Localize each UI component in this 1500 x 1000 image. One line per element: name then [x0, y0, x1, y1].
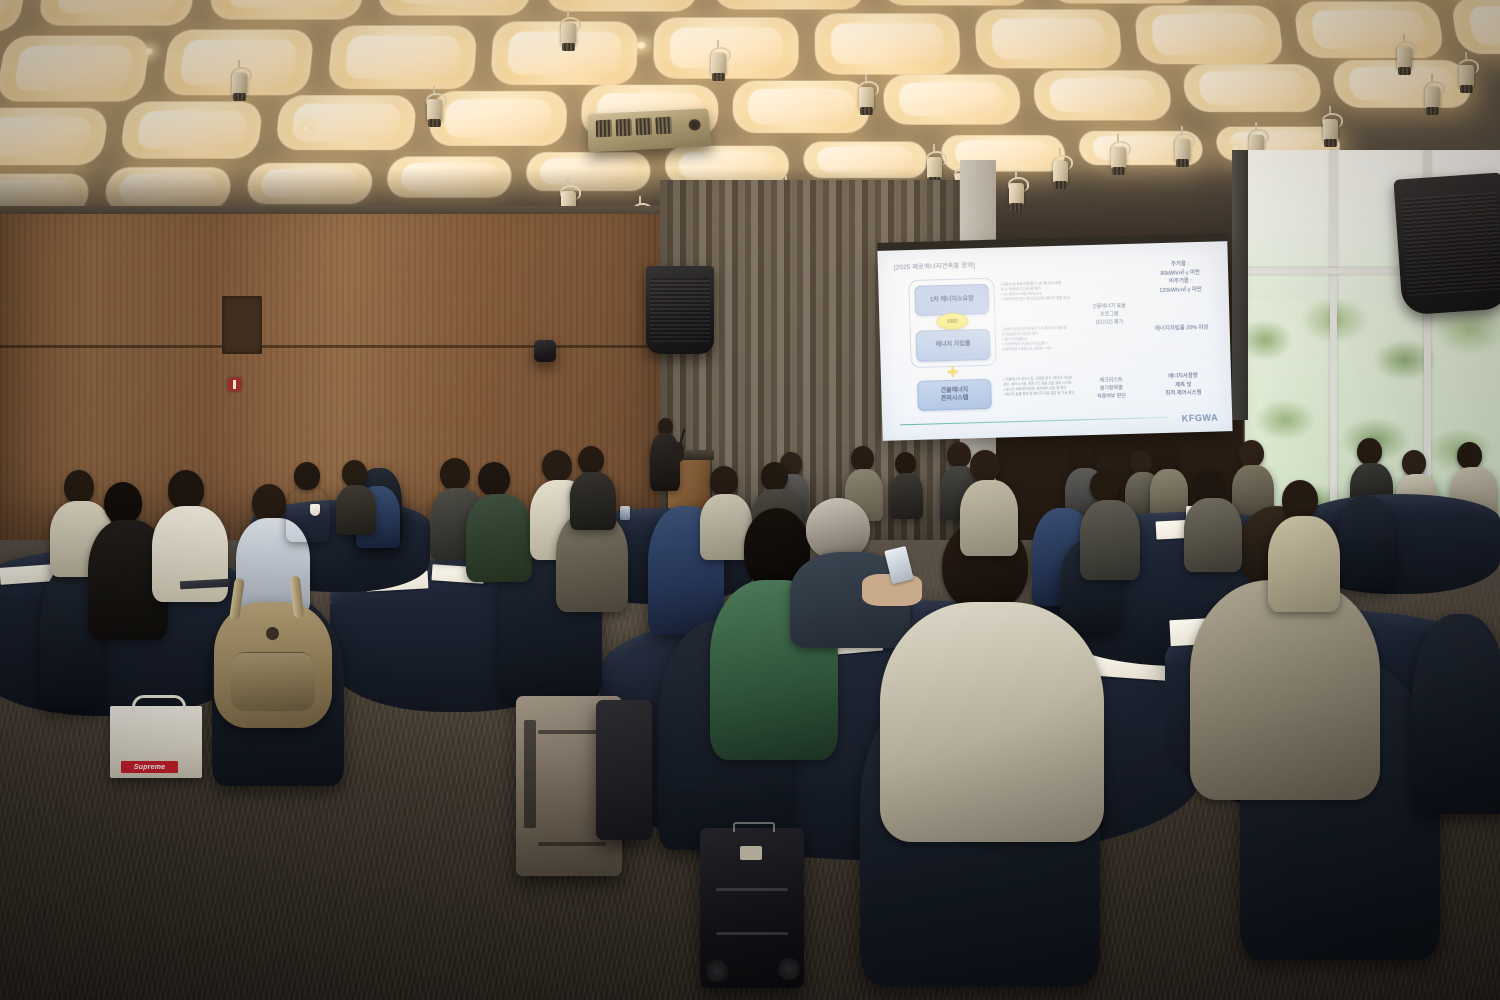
projector-vent [596, 120, 612, 138]
attendee-head [1357, 438, 1382, 465]
slide-criteria-monitoring: 에너지사용량 계측 및 최적 제어시스템 [1145, 371, 1222, 399]
ceiling-light-panel [1044, 0, 1200, 3]
attendee-head [970, 450, 1000, 482]
recessed-downlight [635, 42, 646, 49]
attendee-head [1156, 446, 1179, 471]
attendee-body [1184, 498, 1242, 572]
attendee-head [440, 458, 470, 490]
attendee-body [1080, 500, 1140, 580]
slide-col-eco2: 건물에너지 효율 프로그램 (ECO2) 평가 [1079, 302, 1140, 328]
suitcase-handle [733, 822, 774, 832]
attendee-head [1090, 470, 1120, 502]
ceiling-light-panel [428, 91, 568, 146]
wall-speaker [646, 266, 714, 354]
suitcase-ridge [716, 888, 788, 891]
projector-lens-icon [688, 119, 701, 131]
ceiling-light-panel [275, 95, 417, 150]
attendee-body [1268, 516, 1340, 612]
ceiling-light-panel [1182, 64, 1323, 112]
suitcase-lock-icon [740, 846, 762, 860]
attendee-head [1071, 444, 1095, 470]
attendee-body [960, 480, 1018, 556]
projector-vent [616, 119, 633, 137]
backpack [214, 602, 332, 728]
attendee-head [478, 462, 510, 496]
slide-box-primary-energy: 1차 에너지소요량 [914, 284, 989, 316]
tote-bag: Supreme [110, 706, 202, 778]
attendee-body [890, 473, 923, 519]
attendee-head [1402, 450, 1426, 476]
slide-criteria-self-sufficiency: 에너지자립률 20% 이상 [1142, 323, 1222, 334]
conference-room-photo: [2025 제로에너지건축물 정의] 1차 에너지소요량 AND 에너지 자립률… [0, 0, 1500, 1000]
attendee-body [336, 485, 376, 535]
attendee-head [1130, 450, 1152, 474]
slide-box-bems: 건물에너지 관리시스템 [917, 379, 992, 411]
attendee-head [168, 470, 204, 510]
projector-vent [635, 118, 652, 136]
attendee-head [851, 446, 874, 471]
attendee-head [1194, 468, 1224, 500]
chair [1338, 496, 1394, 588]
window-shade [1232, 150, 1248, 420]
attendee-head [1457, 442, 1482, 469]
projection-screen: [2025 제로에너지건축물 정의] 1차 에너지소요량 AND 에너지 자립률… [877, 241, 1232, 441]
ceiling-projector [588, 108, 712, 152]
attendee-body [570, 472, 616, 530]
ceiling-speaker [1393, 172, 1500, 315]
wall-access-panel [222, 296, 262, 354]
ceiling-light-panel [1293, 1, 1445, 58]
ceiling-light-panel [1033, 70, 1173, 120]
suitcase-side [596, 700, 652, 840]
attendee-head [761, 462, 788, 491]
projector-vent [655, 117, 672, 135]
attendee-body [880, 602, 1104, 842]
slide-col-checklist: 체크리스트 평가항목별 적용여부 판단 [1081, 376, 1142, 402]
small-wall-speaker [534, 340, 556, 362]
suitcase-wheel [778, 958, 800, 980]
water-glass [620, 506, 630, 520]
attendee-head [104, 482, 142, 524]
tote-brand-logo: Supreme [121, 761, 178, 773]
ceiling-light-panel [815, 13, 961, 74]
ceiling-light-panel [0, 36, 151, 102]
attendee-head [710, 466, 738, 496]
slide-bullets-independence: • 냉방/난방/급탕/조명/환기 1차 에너지소요량 및 신·재생에너지 생산량… [1002, 325, 1075, 352]
slide-content: [2025 제로에너지건축물 정의] 1차 에너지소요량 AND 에너지 자립률… [877, 241, 1232, 441]
attendee-head [542, 450, 572, 482]
backpack-pocket [231, 652, 316, 711]
ceiling-light-panel [733, 81, 870, 133]
wall-panel-seam [0, 345, 660, 348]
ceiling-light-panel [119, 102, 264, 159]
slide-criteria-energy-demand: 주거용 : 80kWh/㎡·y 미만 비주거용 : 120kWh/㎡·y 미만 [1140, 259, 1221, 296]
attendee-head [578, 446, 604, 474]
chair [1412, 614, 1500, 814]
ceiling-light-panel [0, 108, 110, 165]
ceiling-light-panel [377, 0, 533, 15]
attendee-body [466, 494, 532, 582]
attendee-head [294, 462, 320, 490]
attendee-head [1282, 480, 1318, 520]
ceiling-light-panel [208, 0, 367, 20]
ceiling-light-panel [713, 0, 865, 9]
presenter-arm [672, 442, 684, 462]
attendee-head [947, 442, 971, 468]
attendee-head [1239, 440, 1264, 467]
attendee-body [286, 488, 330, 542]
slide-bullets-primary: • 냉방/난방/급탕/조명/환기 1차 에너지소요량 및 신·재생에너지 생산량… [1000, 280, 1073, 302]
backpack-logo-patch [266, 627, 279, 640]
ceiling-light-panel [883, 75, 1021, 125]
slide-box-bems-label: 건물에너지 관리시스템 [940, 386, 968, 403]
ceiling-light-panel [974, 9, 1122, 68]
ceiling-light-panel [879, 0, 1032, 5]
ceiling-light-panel [327, 26, 478, 89]
recessed-downlight [142, 48, 154, 55]
slide-bullets-bems: • 건물에너지 정보수집, 사용량 분석, 제어가 가능한 정보, 제어시스템,… [1003, 375, 1080, 397]
tote-handle [132, 695, 186, 712]
fire-alarm-icon [228, 378, 241, 391]
attendee-head [252, 484, 286, 522]
attendee-head [806, 498, 870, 560]
window-mullion [1330, 150, 1337, 550]
slide-accent-rule [900, 416, 1168, 425]
attendee-body [1190, 580, 1380, 800]
suitcase-strap [524, 720, 536, 828]
ceiling-light-panel [0, 0, 31, 32]
ceiling-light-panel [1134, 5, 1284, 64]
slide-logo: KFGWA [1182, 412, 1219, 423]
ceiling-light-panel [37, 0, 199, 26]
suitcase-ridge [716, 932, 788, 935]
slide-box-energy-independence: 에너지 자립률 [916, 329, 991, 362]
attendee-head [64, 470, 94, 504]
suitcase-zipper [538, 842, 606, 846]
slide-title: [2025 제로에너지건축물 정의] [894, 260, 975, 271]
attendee-head [342, 460, 367, 487]
ceiling-light-panel [1450, 0, 1500, 54]
attendee-head [895, 452, 916, 475]
suitcase-wheel [706, 960, 728, 982]
